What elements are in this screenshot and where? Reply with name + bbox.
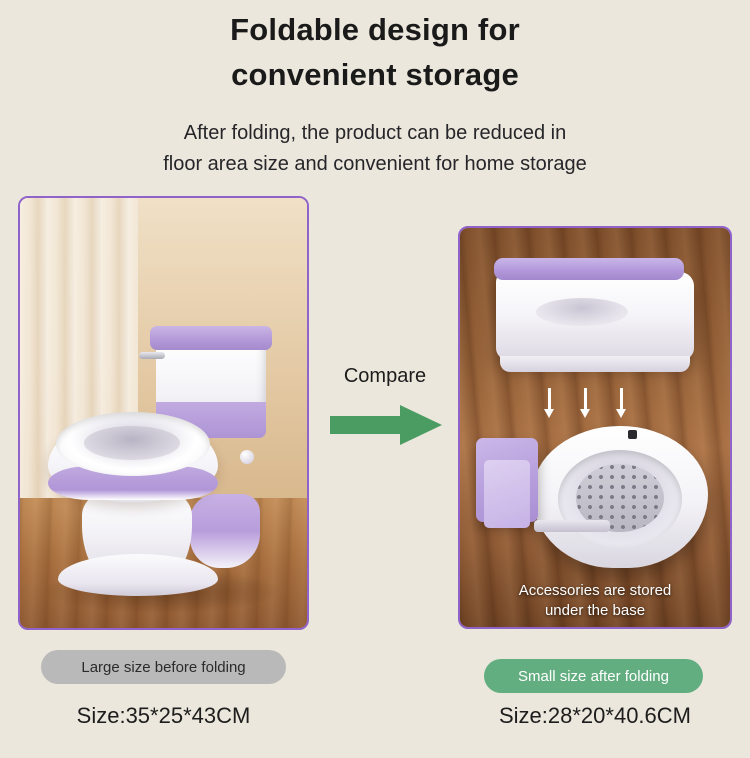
folded-lid — [494, 258, 684, 280]
folded-seat-dip — [536, 298, 628, 326]
photo-caption-line2: under the base — [460, 601, 730, 621]
cap-icon — [628, 430, 637, 439]
rear-pipe — [190, 494, 260, 568]
photo-caption-line1: Accessories are stored — [519, 582, 672, 599]
accessory-pad — [476, 438, 538, 522]
base-foot — [58, 554, 218, 596]
page-title-line1: Foldable design for — [230, 12, 520, 47]
page-subtitle-line2: floor area size and convenient for home … — [0, 149, 750, 180]
page-title: Foldable design for convenient storage — [0, 8, 750, 98]
side-button-icon — [240, 450, 254, 464]
promo-page: Foldable design for convenient storage A… — [0, 0, 750, 758]
accessory-pad-inner — [484, 460, 530, 528]
down-arrow-icon — [544, 388, 634, 422]
flush-lever-icon — [139, 352, 165, 359]
arrow-head — [400, 405, 442, 445]
potty-unfolded-graphic — [38, 338, 288, 598]
page-title-line2: convenient storage — [0, 53, 750, 98]
right-arrow-icon — [330, 405, 442, 445]
after-folding-size: Size:28*20*40.6CM — [458, 703, 732, 729]
folded-unit-graphic — [490, 248, 702, 380]
after-folding-photo: Accessories are stored under the base — [458, 226, 732, 629]
arrow-shaft — [330, 416, 402, 434]
folded-foot — [500, 356, 690, 372]
tank-lid — [150, 326, 272, 350]
base-with-accessories-graphic — [476, 424, 716, 574]
compare-label: Compare — [318, 365, 452, 388]
before-folding-size: Size:35*25*43CM — [18, 703, 309, 729]
page-subtitle: After folding, the product can be reduce… — [0, 118, 750, 180]
seat-opening — [84, 426, 180, 460]
hinge — [534, 520, 610, 532]
photo-caption: Accessories are stored under the base — [460, 581, 730, 622]
page-subtitle-line1: After folding, the product can be reduce… — [184, 122, 566, 144]
before-folding-photo — [18, 196, 309, 630]
after-folding-badge: Small size after folding — [484, 659, 703, 693]
before-folding-badge: Large size before folding — [41, 650, 286, 684]
